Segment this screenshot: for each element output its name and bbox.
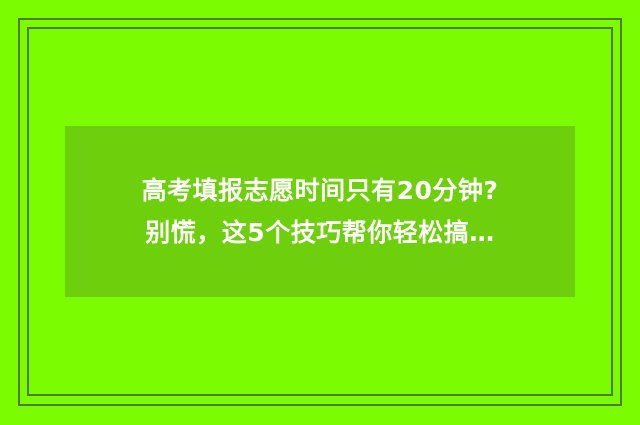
article-title-card: 高考填报志愿时间只有20分钟? 别慌，这5个技巧帮你轻松搞…	[0, 0, 640, 425]
headline-text: 高考填报志愿时间只有20分钟? 别慌，这5个技巧帮你轻松搞…	[65, 171, 575, 253]
headline-panel: 高考填报志愿时间只有20分钟? 别慌，这5个技巧帮你轻松搞…	[65, 126, 575, 297]
headline-line-1: 高考填报志愿时间只有20分钟?	[65, 171, 575, 211]
headline-line-2: 别慌，这5个技巧帮你轻松搞…	[65, 213, 575, 253]
